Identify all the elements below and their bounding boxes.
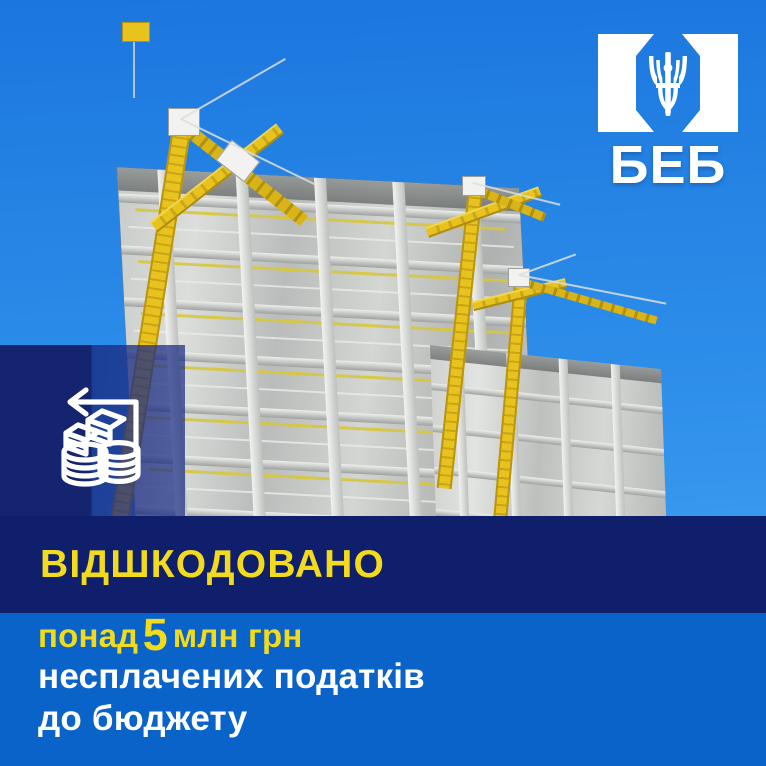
subtext-block: понад 5 млн грн несплачених податків до …	[38, 614, 425, 740]
ukraine-trident-icon	[649, 52, 687, 116]
subtext-line-2: несплачених податків	[38, 656, 425, 698]
subtext-unit: млн грн	[173, 617, 303, 654]
subtext-line-3: до бюджету	[38, 698, 425, 740]
poster-root: БЕБ ВІДШКОДОВАНО	[0, 0, 766, 766]
money-refund-icon	[44, 378, 159, 493]
logo-bracket-mark	[592, 28, 744, 138]
headline-text: ВІДШКОДОВАНО	[40, 541, 385, 589]
subtext-amount: 5	[143, 609, 169, 660]
logo-bracket-icon	[592, 28, 744, 138]
beb-logo: БЕБ	[592, 28, 744, 188]
logo-abbreviation: БЕБ	[592, 138, 744, 192]
subtext-line-1: понад 5 млн грн	[38, 614, 425, 656]
subtext-prefix: понад	[38, 617, 138, 654]
